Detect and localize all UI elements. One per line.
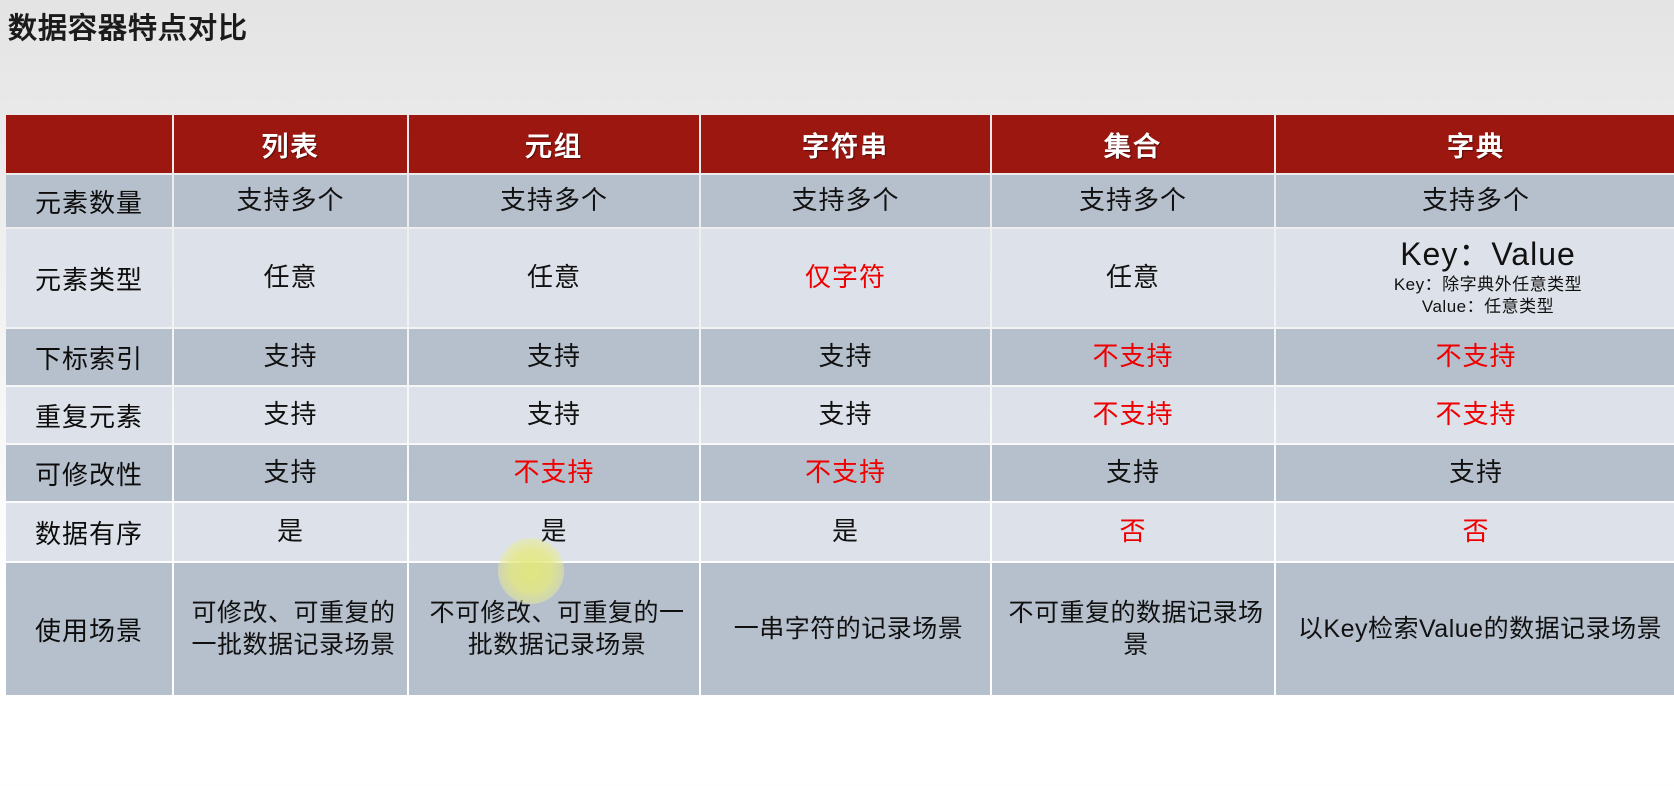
table-row: 元素类型 任意 任意 仅字符 任意 Key：Value Key：除字典外任意类型… (6, 229, 1674, 327)
cell-index-dict: 不支持 (1276, 329, 1674, 385)
column-header-dict: 字典 (1276, 115, 1674, 173)
cell-type-set: 任意 (992, 229, 1274, 327)
cell-mutability-list: 支持 (174, 445, 407, 501)
table-row: 下标索引 支持 支持 支持 不支持 不支持 (6, 329, 1674, 385)
row-label-mutability: 可修改性 (6, 445, 172, 501)
cell-ordered-tuple: 是 (409, 503, 699, 561)
cell-usage-dict: 以Key检索Value的数据记录场景 (1276, 563, 1674, 695)
cell-index-string: 支持 (701, 329, 990, 385)
column-header-string: 字符串 (701, 115, 990, 173)
dict-key-rule: Key：除字典外任意类型 (1300, 274, 1674, 296)
cell-usage-tuple: 不可修改、可重复的一批数据记录场景 (409, 563, 699, 695)
cell-duplicate-dict: 不支持 (1276, 387, 1674, 443)
cell-type-dict: Key：Value Key：除字典外任意类型 Value：任意类型 (1276, 229, 1674, 327)
cell-duplicate-tuple: 支持 (409, 387, 699, 443)
table-row: 重复元素 支持 支持 支持 不支持 不支持 (6, 387, 1674, 443)
dict-value-rule: Value：任意类型 (1300, 296, 1674, 318)
cell-count-tuple: 支持多个 (409, 175, 699, 227)
row-label-element-type: 元素类型 (6, 229, 172, 327)
cell-type-list: 任意 (174, 229, 407, 327)
cell-ordered-string: 是 (701, 503, 990, 561)
table-header-row: 列表 元组 字符串 集合 字典 (6, 115, 1674, 173)
comparison-table: 列表 元组 字符串 集合 字典 元素数量 支持多个 支持多个 支持多个 支持多个… (4, 113, 1674, 697)
table-row: 元素数量 支持多个 支持多个 支持多个 支持多个 支持多个 (6, 175, 1674, 227)
cell-ordered-list: 是 (174, 503, 407, 561)
column-header-tuple: 元组 (409, 115, 699, 173)
cell-count-set: 支持多个 (992, 175, 1274, 227)
table-row: 使用场景 可修改、可重复的一批数据记录场景 不可修改、可重复的一批数据记录场景 … (6, 563, 1674, 695)
cell-index-set: 不支持 (992, 329, 1274, 385)
cell-duplicate-list: 支持 (174, 387, 407, 443)
row-label-element-count: 元素数量 (6, 175, 172, 227)
row-label-duplicate: 重复元素 (6, 387, 172, 443)
cell-type-string: 仅字符 (701, 229, 990, 327)
page-title: 数据容器特点对比 (8, 12, 248, 47)
table-corner-cell (6, 115, 172, 173)
column-header-list: 列表 (174, 115, 407, 173)
cell-ordered-set: 否 (992, 503, 1274, 561)
table-row: 可修改性 支持 不支持 不支持 支持 支持 (6, 445, 1674, 501)
cell-ordered-dict: 否 (1276, 503, 1674, 561)
cell-index-list: 支持 (174, 329, 407, 385)
row-label-ordered: 数据有序 (6, 503, 172, 561)
cell-count-list: 支持多个 (174, 175, 407, 227)
cell-index-tuple: 支持 (409, 329, 699, 385)
cell-usage-set: 不可重复的数据记录场景 (992, 563, 1274, 695)
table-header: 列表 元组 字符串 集合 字典 (6, 115, 1674, 173)
cell-duplicate-string: 支持 (701, 387, 990, 443)
cell-mutability-set: 支持 (992, 445, 1274, 501)
dict-kv-title: Key：Value (1300, 238, 1674, 272)
column-header-set: 集合 (992, 115, 1274, 173)
cell-mutability-string: 不支持 (701, 445, 990, 501)
cell-usage-string: 一串字符的记录场景 (701, 563, 990, 695)
table-row: 数据有序 是 是 是 否 否 (6, 503, 1674, 561)
cell-count-dict: 支持多个 (1276, 175, 1674, 227)
cell-mutability-dict: 支持 (1276, 445, 1674, 501)
cell-duplicate-set: 不支持 (992, 387, 1274, 443)
cell-usage-list: 可修改、可重复的一批数据记录场景 (174, 563, 407, 695)
cell-count-string: 支持多个 (701, 175, 990, 227)
cell-mutability-tuple: 不支持 (409, 445, 699, 501)
row-label-index: 下标索引 (6, 329, 172, 385)
table-body: 元素数量 支持多个 支持多个 支持多个 支持多个 支持多个 元素类型 任意 任意… (6, 175, 1674, 695)
cell-type-tuple: 任意 (409, 229, 699, 327)
row-label-usage: 使用场景 (6, 563, 172, 695)
